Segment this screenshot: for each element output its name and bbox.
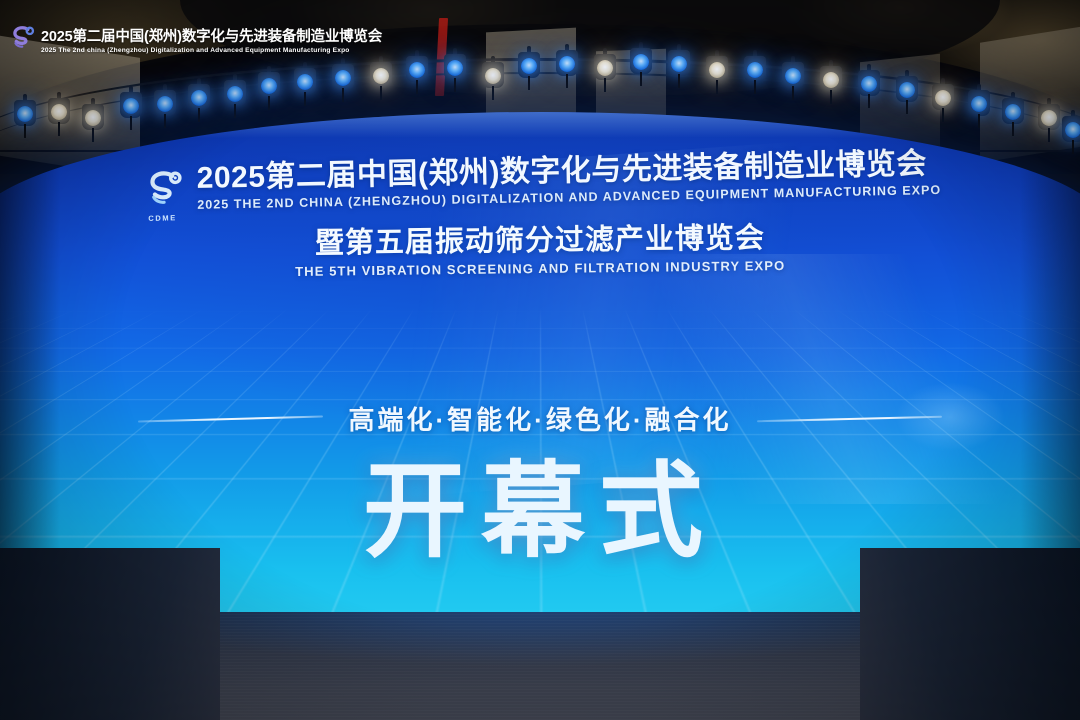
lamp-lens [823, 72, 839, 88]
blue-stage-light [330, 58, 356, 92]
lamp-lens [747, 62, 763, 78]
blue-stage-light [894, 70, 920, 104]
watermark-en-text: 2025 The 2nd china (Zhengzhou) Digitaliz… [41, 47, 382, 54]
lamp-cable [304, 92, 306, 106]
lamp-lens [157, 96, 173, 112]
lamp-cable [380, 86, 382, 100]
slogan-rule-left [138, 415, 323, 422]
lamp-lens [297, 74, 313, 90]
blue-stage-light [742, 50, 768, 84]
lamp-cable [268, 96, 270, 110]
title-line-2: 暨第五届振动筛分过滤产业博览会 THE 5TH VIBRATION SCREEN… [0, 219, 1080, 283]
lamp-lens [633, 54, 649, 70]
slogan-rule-right [757, 415, 942, 422]
blue-stage-light [442, 48, 468, 82]
blue-stage-light [516, 46, 542, 80]
lamp-cable [792, 86, 794, 100]
lamp-lens [671, 56, 687, 72]
lamp-lens [899, 82, 915, 98]
cdme-logo-icon: CDME [139, 169, 186, 222]
lamp-lens [409, 62, 425, 78]
lamp-cable [604, 78, 606, 92]
white-stage-light [930, 78, 956, 112]
lamp-cable [416, 80, 418, 94]
blue-stage-light [186, 78, 212, 112]
lamp-cable [454, 78, 456, 92]
floor-side-right [860, 548, 1080, 720]
lamp-lens [447, 60, 463, 76]
lamp-cable [342, 88, 344, 102]
lamp-lens [261, 78, 277, 94]
lamp-lens [861, 76, 877, 92]
stage-photo-scene: CDME 2025第二届中国(郑州)数字化与先进装备制造业博览会 2025 TH… [0, 0, 1080, 720]
lamp-cable [868, 94, 870, 108]
lamp-lens [785, 68, 801, 84]
lamp-cable [716, 80, 718, 94]
slogan-text: 高端化·智能化·绿色化·融合化 [349, 400, 732, 437]
event-title-block: CDME 2025第二届中国(郑州)数字化与先进装备制造业博览会 2025 TH… [0, 156, 1080, 276]
lamp-cable [678, 74, 680, 88]
blue-stage-light [780, 56, 806, 90]
floor-side-left [0, 548, 220, 720]
blue-stage-light [628, 42, 654, 76]
watermark-logo-icon [6, 24, 36, 54]
lamp-lens [935, 90, 951, 106]
lamp-cable [754, 80, 756, 94]
blue-stage-light [404, 50, 430, 84]
blue-stage-light [554, 44, 580, 78]
lamp-lens [227, 86, 243, 102]
lamp-lens [373, 68, 389, 84]
lamp-cable [492, 86, 494, 100]
lamp-lens [485, 68, 501, 84]
lamp-cable [640, 72, 642, 86]
watermark: 2025第二届中国(郑州)数字化与先进装备制造业博览会 2025 The 2nd… [6, 24, 382, 54]
blue-stage-light [222, 74, 248, 108]
cdme-wordmark: CDME [139, 213, 185, 223]
lamp-lens [521, 58, 537, 74]
blue-stage-light [666, 44, 692, 78]
blue-stage-light [256, 66, 282, 100]
watermark-cn-text: 2025第二届中国(郑州)数字化与先进装备制造业博览会 [41, 25, 382, 46]
title-line-1: CDME 2025第二届中国(郑州)数字化与先进装备制造业博览会 2025 TH… [0, 145, 1080, 226]
lamp-lens [559, 56, 575, 72]
lamp-lens [597, 60, 613, 76]
lamp-cable [566, 74, 568, 88]
white-stage-light [592, 48, 618, 82]
lamp-lens [971, 96, 987, 112]
white-stage-light [704, 50, 730, 84]
white-stage-light [368, 56, 394, 90]
blue-stage-light [292, 62, 318, 96]
slogan-row: 高端化·智能化·绿色化·融合化 [0, 400, 1080, 437]
blue-stage-light [856, 64, 882, 98]
lamp-lens [335, 70, 351, 86]
lamp-cable [528, 76, 530, 90]
lamp-lens [191, 90, 207, 106]
white-stage-light [818, 60, 844, 94]
lamp-cable [830, 90, 832, 104]
lamp-lens [709, 62, 725, 78]
white-stage-light [480, 56, 506, 90]
